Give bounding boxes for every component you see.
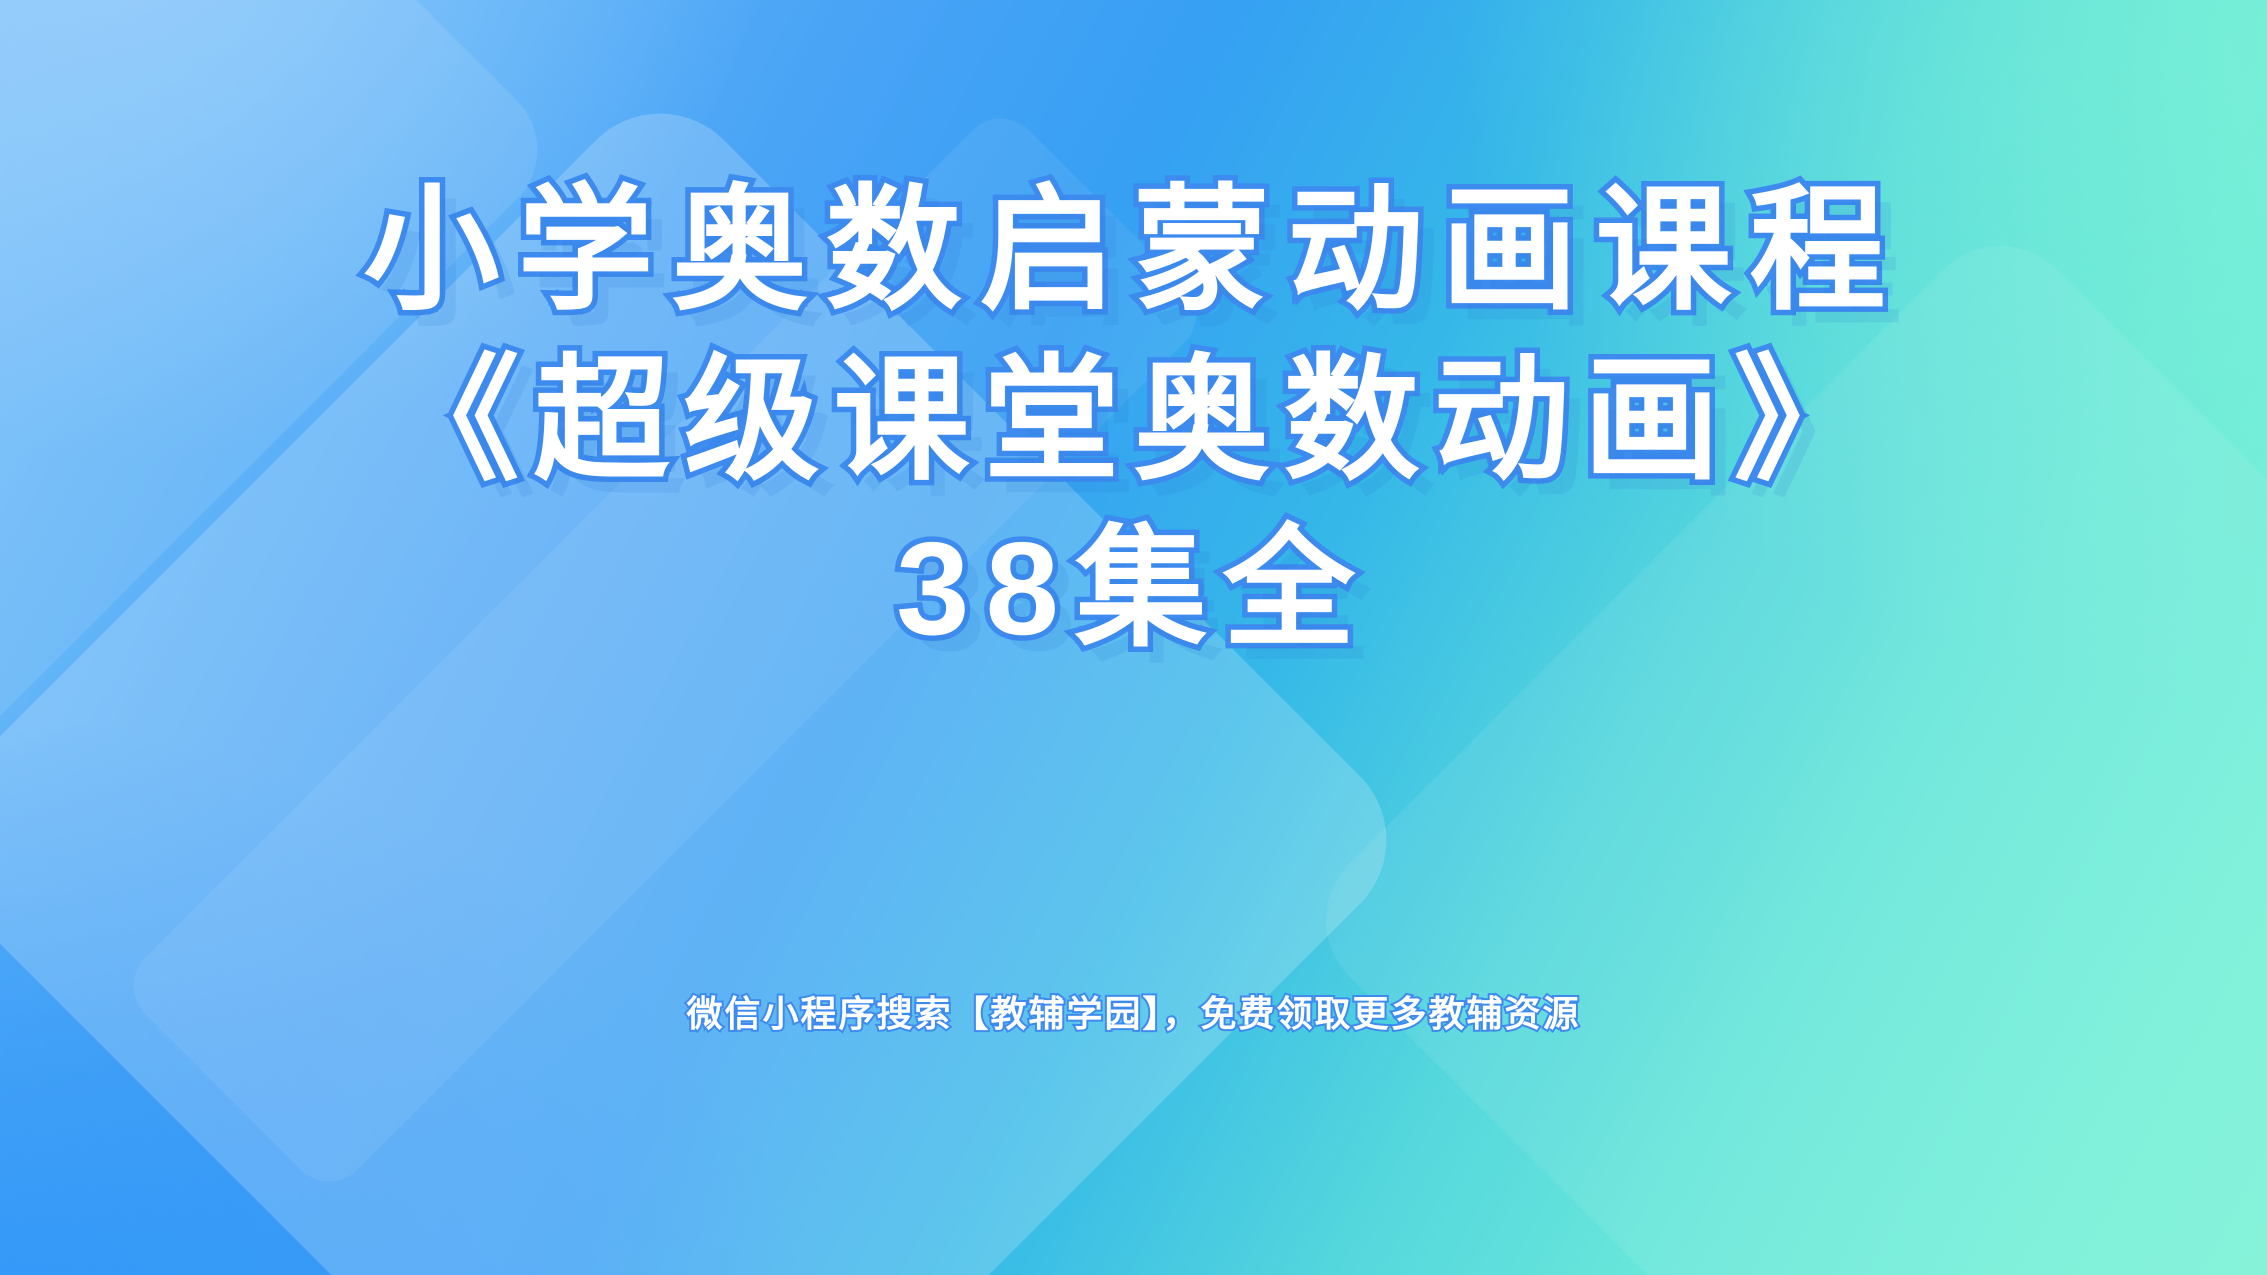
title-line-2: 《超级课堂奥数动画》	[384, 338, 1884, 504]
promo-subtitle: 微信小程序搜索【教辅学园】，免费领取更多教辅资源	[0, 985, 2267, 1037]
poster-content: 小学奥数启蒙动画课程 《超级课堂奥数动画》 38集全 微信小程序搜索【教辅学园】…	[0, 0, 2267, 1275]
poster-canvas: 小学奥数启蒙动画课程 《超级课堂奥数动画》 38集全 微信小程序搜索【教辅学园】…	[0, 0, 2267, 1275]
title-line-1: 小学奥数启蒙动画课程	[364, 168, 1904, 334]
title-line-3: 38集全	[896, 508, 1371, 669]
poster-title: 小学奥数启蒙动画课程 《超级课堂奥数动画》 38集全	[0, 168, 2267, 669]
